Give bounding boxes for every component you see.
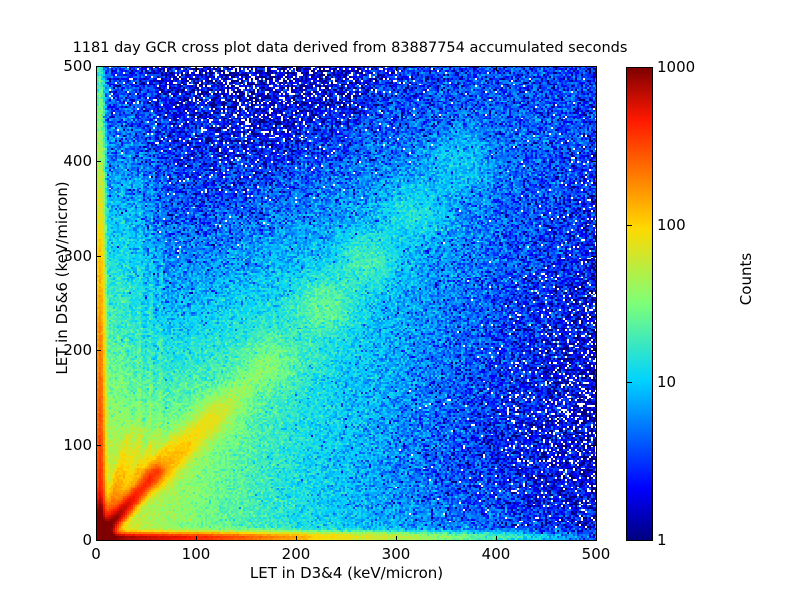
- colorbar-tick-mark: [626, 382, 632, 383]
- colorbar[interactable]: [626, 67, 653, 541]
- y-tick-mark: [96, 66, 101, 67]
- x-tick-mark: [496, 536, 497, 541]
- chart-title-line-1: 1181 day GCR cross plot data derived fro…: [0, 40, 700, 57]
- x-tick-mark: [196, 66, 197, 71]
- y-tick-mark: [96, 445, 101, 446]
- x-tick-mark: [596, 536, 597, 541]
- x-tick-mark: [296, 66, 297, 71]
- colorbar-tick-label: 10: [657, 373, 676, 391]
- x-axis-label: LET in D3&4 (keV/micron): [96, 564, 597, 582]
- y-tick-label: 0: [32, 531, 92, 549]
- figure-canvas: 1181 day GCR cross plot data derived fro…: [0, 0, 800, 600]
- colorbar-gradient: [627, 68, 652, 540]
- x-tick-label: 400: [466, 545, 526, 563]
- x-tick-mark: [396, 536, 397, 541]
- density-heatmap: [97, 67, 596, 540]
- x-tick-mark: [396, 66, 397, 71]
- x-tick-mark: [196, 536, 197, 541]
- x-tick-mark: [296, 536, 297, 541]
- colorbar-tick-label: 100: [657, 216, 686, 234]
- y-tick-mark: [96, 256, 101, 257]
- y-tick-label: 500: [32, 57, 92, 75]
- x-tick-mark: [496, 66, 497, 71]
- y-tick-mark: [96, 161, 101, 162]
- y-tick-mark: [591, 540, 596, 541]
- x-tick-label: 300: [366, 545, 426, 563]
- plot-area[interactable]: [96, 66, 597, 541]
- colorbar-tick-label: 1000: [657, 58, 695, 76]
- colorbar-tick-mark: [626, 225, 632, 226]
- colorbar-tick-label: 1: [657, 531, 667, 549]
- y-tick-mark: [591, 161, 596, 162]
- y-tick-mark: [591, 66, 596, 67]
- y-tick-mark: [591, 350, 596, 351]
- x-tick-label: 500: [566, 545, 626, 563]
- colorbar-label: Counts: [737, 169, 755, 389]
- x-tick-mark: [596, 66, 597, 71]
- y-axis-label: LET in D5&6 (keV/micron): [53, 88, 71, 468]
- x-tick-label: 200: [266, 545, 326, 563]
- y-tick-mark: [96, 350, 101, 351]
- y-tick-mark: [96, 540, 101, 541]
- y-tick-mark: [591, 445, 596, 446]
- y-tick-mark: [591, 256, 596, 257]
- x-tick-label: 100: [166, 545, 226, 563]
